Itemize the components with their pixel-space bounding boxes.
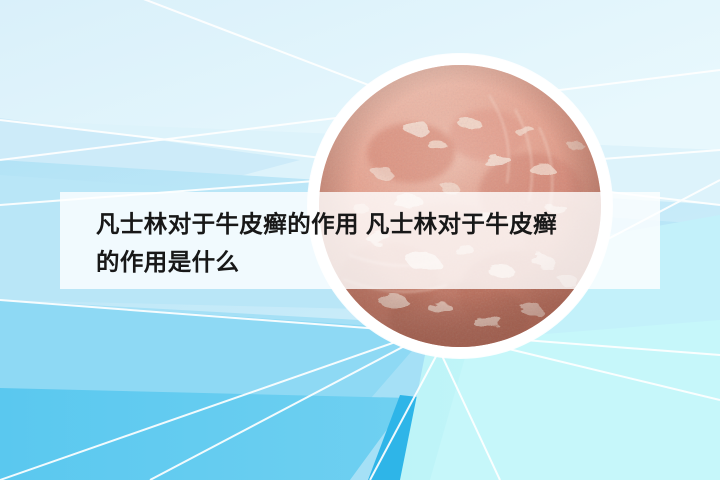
caption-line-2: 的作用是什么 bbox=[96, 249, 239, 275]
caption-line-1: 凡士林对于牛皮癣的作用 凡士林对于牛皮癣 bbox=[96, 211, 557, 237]
bg-facet-bottom-left bbox=[0, 388, 410, 480]
caption-title-text: 凡士林对于牛皮癣的作用 凡士林对于牛皮癣的作用是什么 bbox=[96, 205, 648, 281]
cover-image-canvas: 凡士林对于牛皮癣的作用 凡士林对于牛皮癣的作用是什么 bbox=[0, 0, 720, 480]
